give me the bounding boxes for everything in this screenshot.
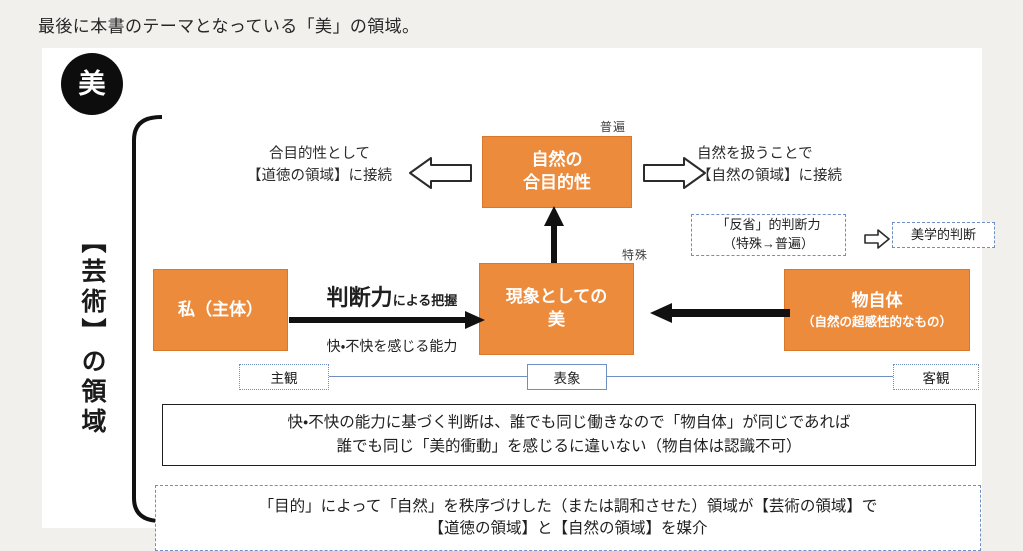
box-aesthetic-judgement-label: 美学的判断 [911,226,976,245]
node-natural-purposiveness[interactable]: 自然の 合目的性 [482,136,632,208]
judgement-caption: 判断力による把握 [297,280,487,312]
hollow-arrow-small-right-icon [864,228,890,250]
box-reflective-judgement-line2: （特殊→普遍） [723,235,814,254]
box-conclusion-line1: 快・不快の能力に基づく判断は、誰でも同じ働きなので「物自体」が同じであれば [287,411,850,435]
box-mediation-line2: 【道徳の領域】と【自然の領域】を媒介 [428,518,707,540]
solid-arrow-up-icon [542,206,566,266]
ability-caption: 快・不快を感じる能力 [292,336,492,356]
domain-badge: 美 [61,53,123,115]
node-natural-purposiveness-line1: 自然の [532,149,583,172]
strip-box-objective[interactable]: 客観 [893,364,979,390]
note-nature-connection-line1: 自然を扱うことで [697,144,842,166]
node-subject-label: 私（主体） [178,299,263,322]
strip-box-subjective[interactable]: 主観 [239,364,329,390]
box-conclusion[interactable]: 快・不快の能力に基づく判断は、誰でも同じ働きなので「物自体」が同じであれば 誰で… [162,404,976,466]
scale-label-universal: 普遍 [600,118,626,135]
figure-caption: 最後に本書のテーマとなっている「美」の領域。 [38,12,419,37]
box-reflective-judgement-line1: 「反省」的判断力 [716,216,820,235]
judgement-caption-sub: による把握 [393,293,458,308]
judgement-caption-main: 判断力 [327,285,393,310]
note-moral-connection: 合目的性として 【道徳の領域】に接続 [247,144,392,188]
hollow-arrow-left-icon [407,156,473,190]
box-mediation[interactable]: 「目的」によって「自然」を秩序づけした（または調和させた）領域が【芸術の領域】で… [155,485,981,551]
box-aesthetic-judgement[interactable]: 美学的判断 [892,222,995,248]
region-label: 【芸術】の領域 [64,208,110,458]
note-moral-connection-line1: 合目的性として [247,144,392,166]
strip-connector-left [329,376,527,377]
node-subject[interactable]: 私（主体） [153,269,288,351]
box-reflective-judgement[interactable]: 「反省」的判断力 （特殊→普遍） [691,214,846,256]
box-conclusion-line2: 誰でも同じ「美的衝動」を感じるに違いない（物自体は認識不可） [336,435,801,459]
node-natural-purposiveness-line2: 合目的性 [523,172,591,195]
solid-arrow-left-icon [650,303,790,323]
solid-arrow-right-icon [289,311,485,329]
node-phenomenon-beauty-line2: 美 [548,309,565,332]
strip-box-representation[interactable]: 表象 [527,364,607,390]
node-phenomenon-beauty[interactable]: 現象としての 美 [479,263,634,355]
box-mediation-line1: 「目的」によって「自然」を秩序づけした（または調和させた）領域が【芸術の領域】で [259,496,878,518]
figure-card: 美 【芸術】の領域 普遍 特殊 自然の 合目的性 合目的性として 【道徳の領域】… [42,48,982,528]
strip-connector-right [607,376,893,377]
note-nature-connection: 自然を扱うことで 【自然の領域】に接続 [697,144,842,188]
node-thing-in-itself-sublabel: （自然の超感性的なもの） [802,314,952,331]
scale-label-particular: 特殊 [622,246,648,263]
node-thing-in-itself[interactable]: 物自体 （自然の超感性的なもの） [784,269,970,351]
node-phenomenon-beauty-line1: 現象としての [506,286,608,309]
note-moral-connection-line2: 【道徳の領域】に接続 [247,166,392,188]
note-nature-connection-line2: 【自然の領域】に接続 [697,166,842,188]
node-thing-in-itself-label: 物自体 [852,290,903,313]
